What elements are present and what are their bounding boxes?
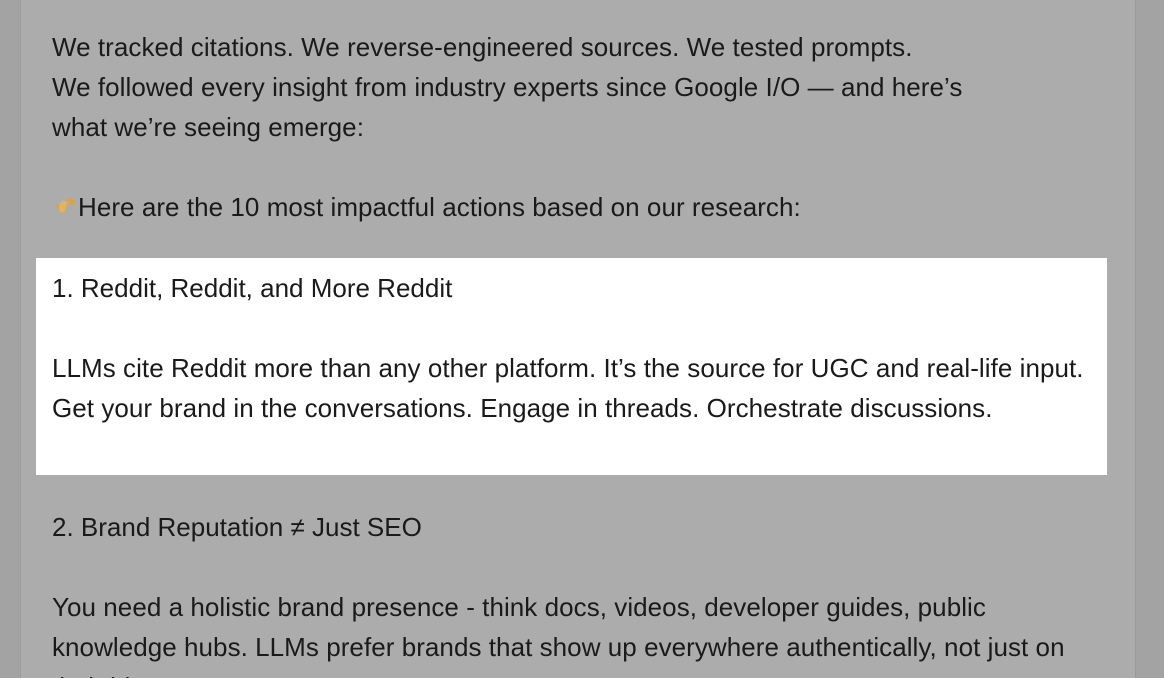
intro-line-2: We followed every insight from industry … bbox=[52, 67, 1092, 107]
intro-line-3: what we’re seeing emerge: bbox=[52, 107, 1092, 147]
item-heading: 1. Reddit, Reddit, and More Reddit bbox=[52, 268, 1092, 308]
item-body: You need a holistic brand presence - thi… bbox=[52, 587, 1092, 678]
highlighted-item-card[interactable]: 1. Reddit, Reddit, and More Reddit LLMs … bbox=[36, 258, 1107, 475]
document-viewport: We tracked citations. We reverse-enginee… bbox=[0, 0, 1164, 678]
page-left-rule bbox=[20, 0, 21, 678]
item-body: LLMs cite Reddit more than any other pla… bbox=[52, 348, 1092, 428]
lead-in-text: Here are the 10 most impactful actions b… bbox=[78, 187, 801, 227]
item-spacer bbox=[52, 308, 1092, 348]
intro-paragraph: We tracked citations. We reverse-enginee… bbox=[52, 27, 1092, 147]
document-content: We tracked citations. We reverse-enginee… bbox=[36, 0, 1106, 678]
highlighted-item-content: 1. Reddit, Reddit, and More Reddit LLMs … bbox=[52, 268, 1092, 428]
item-section-two: 2. Brand Reputation ≠ Just SEO You need … bbox=[52, 507, 1092, 678]
pointing-right-hand-icon bbox=[52, 194, 78, 220]
item-heading: 2. Brand Reputation ≠ Just SEO bbox=[52, 507, 1092, 547]
intro-line-1: We tracked citations. We reverse-enginee… bbox=[52, 27, 1092, 67]
lead-in-line: Here are the 10 most impactful actions b… bbox=[52, 187, 1092, 227]
page-right-rule bbox=[1135, 0, 1136, 678]
